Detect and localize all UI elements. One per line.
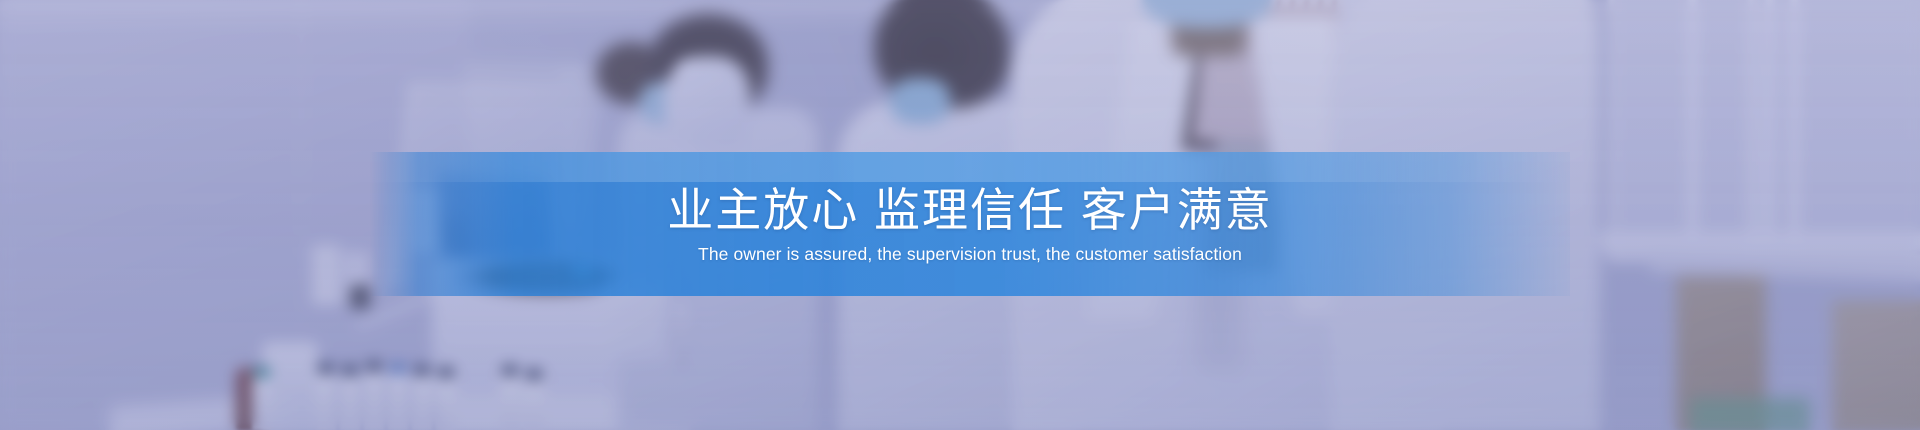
banner-subheadline: The owner is assured, the supervision tr… [698,244,1242,265]
hero-banner: 业主放心 监理信任 客户满意 The owner is assured, the… [0,0,1920,430]
banner-text-block: 业主放心 监理信任 客户满意 The owner is assured, the… [370,152,1570,296]
banner-headline: 业主放心 监理信任 客户满意 [667,183,1273,237]
